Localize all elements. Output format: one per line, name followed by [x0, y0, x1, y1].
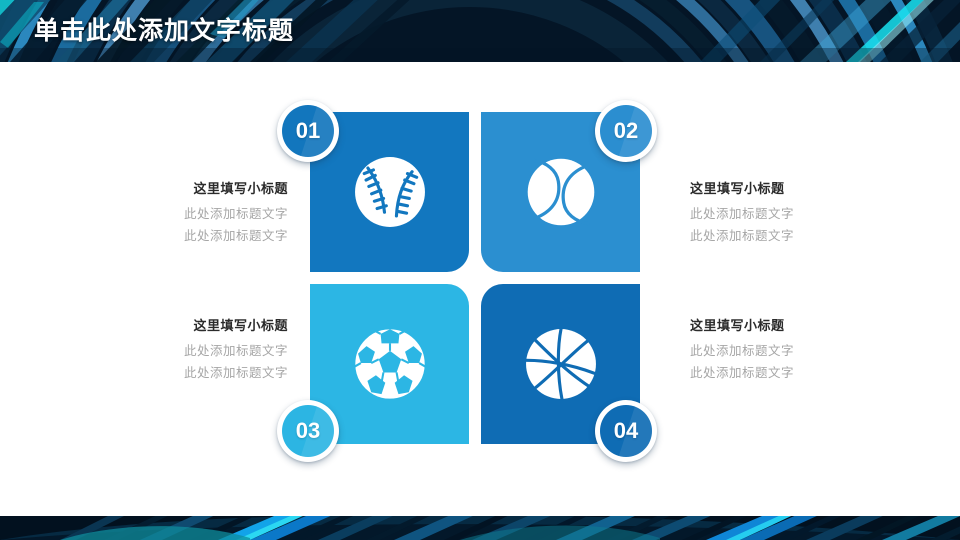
badge-02-number: 02 [614, 118, 638, 144]
badge-02[interactable]: 02 [595, 100, 657, 162]
page-title: 单击此处添加文字标题 [34, 16, 294, 46]
text-block-04-line-1: 此处添加标题文字 [690, 340, 866, 362]
slide-canvas: 单击此处添加文字标题 [0, 0, 960, 540]
text-block-03-title: 这里填写小标题 [112, 315, 288, 337]
text-block-02-line-2: 此处添加标题文字 [690, 225, 866, 247]
text-block-01-line-2: 此处添加标题文字 [112, 225, 288, 247]
badge-02-fill: 02 [600, 105, 652, 157]
header-band: 单击此处添加文字标题 [0, 0, 960, 62]
icon-tile-grid [310, 112, 640, 444]
text-block-03-line-2: 此处添加标题文字 [112, 362, 288, 384]
soccer-ball-icon [343, 317, 437, 411]
text-block-04: 这里填写小标题 此处添加标题文字 此处添加标题文字 [690, 315, 866, 384]
text-block-01-line-1: 此处添加标题文字 [112, 203, 288, 225]
badge-03-fill: 03 [282, 405, 334, 457]
badge-04[interactable]: 04 [595, 400, 657, 462]
badge-03-number: 03 [296, 418, 320, 444]
text-block-02-title: 这里填写小标题 [690, 178, 866, 200]
text-block-03-line-1: 此处添加标题文字 [112, 340, 288, 362]
text-block-01: 这里填写小标题 此处添加标题文字 此处添加标题文字 [112, 178, 288, 247]
text-block-04-title: 这里填写小标题 [690, 315, 866, 337]
basketball-icon [515, 318, 607, 410]
badge-01[interactable]: 01 [277, 100, 339, 162]
baseball-icon [344, 146, 436, 238]
text-block-01-title: 这里填写小标题 [112, 178, 288, 200]
badge-04-number: 04 [614, 418, 638, 444]
text-block-03: 这里填写小标题 此处添加标题文字 此处添加标题文字 [112, 315, 288, 384]
tennis-ball-icon [516, 147, 606, 237]
text-block-04-line-2: 此处添加标题文字 [690, 362, 866, 384]
footer-band [0, 516, 960, 540]
footer-stripe-decoration [0, 516, 960, 540]
badge-03[interactable]: 03 [277, 400, 339, 462]
badge-01-number: 01 [296, 118, 320, 144]
text-block-02-line-1: 此处添加标题文字 [690, 203, 866, 225]
badge-01-fill: 01 [282, 105, 334, 157]
badge-04-fill: 04 [600, 405, 652, 457]
text-block-02: 这里填写小标题 此处添加标题文字 此处添加标题文字 [690, 178, 866, 247]
